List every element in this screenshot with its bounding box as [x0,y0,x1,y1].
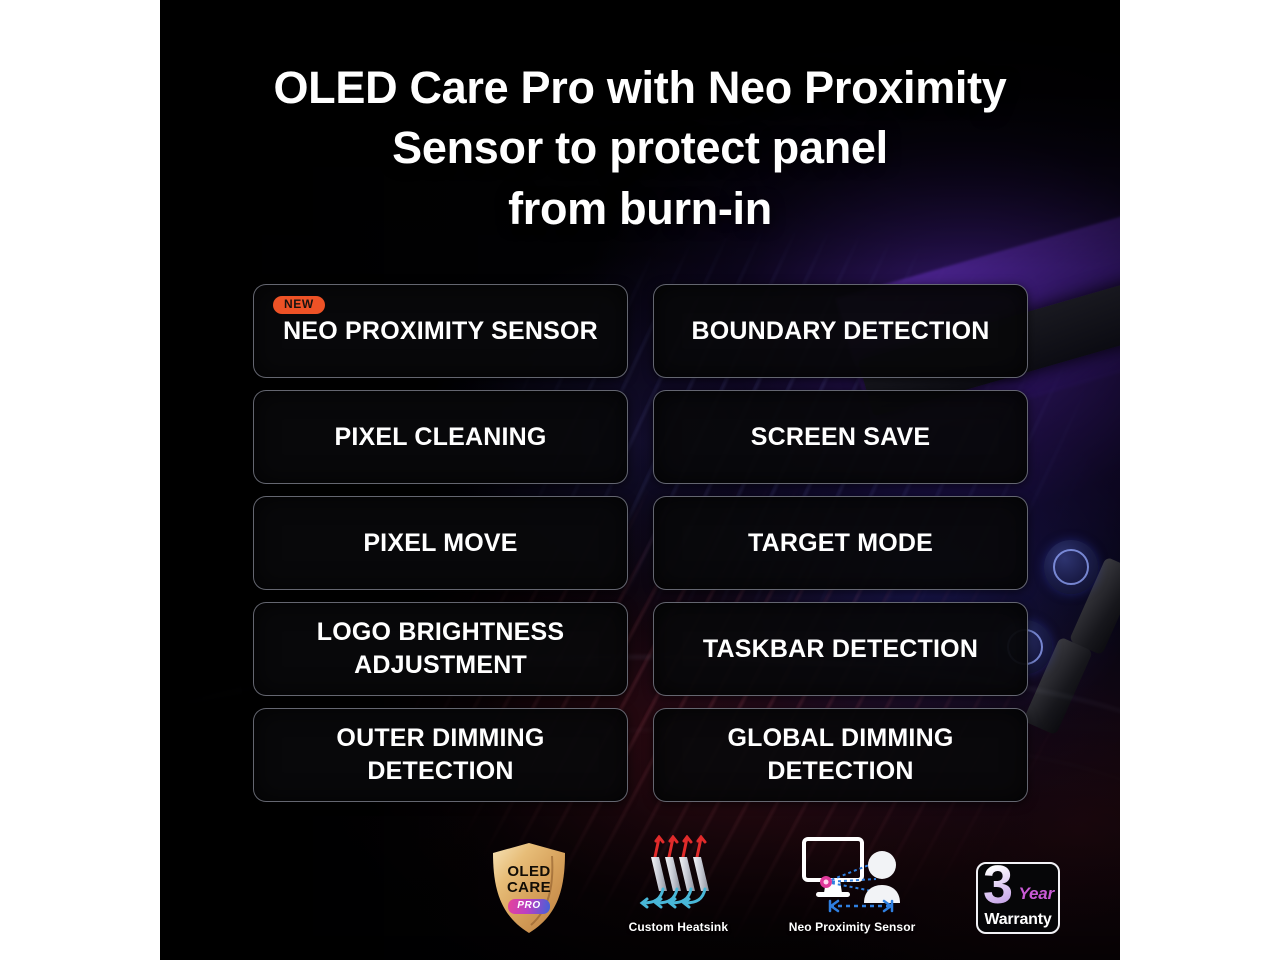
feature-label: NEO PROXIMITY SENSOR [273,315,608,348]
background-knob-upper [1044,540,1098,594]
headline-line-3: from burn-in [160,179,1120,239]
badge-oled-care-pro: OLED CARE PRO [490,842,568,934]
feature-label: SCREEN SAVE [741,421,941,454]
feature-card-outer-dimming-detection[interactable]: OUTER DIMMING DETECTION [253,708,628,802]
feature-label: GLOBAL DIMMING DETECTION [718,722,964,788]
product-marketing-image: OLED Care Pro with Neo Proximity Sensor … [160,0,1120,960]
heatsink-icon [635,835,721,913]
badge-warranty: 3 Year Warranty [976,862,1060,934]
badge-caption-proximity: Neo Proximity Sensor [789,920,916,934]
warranty-label: Warranty [978,911,1058,929]
feature-label: LOGO BRIGHTNESS ADJUSTMENT [307,616,574,682]
badge-custom-heatsink: Custom Heatsink [629,835,729,934]
badge-caption-heatsink: Custom Heatsink [629,920,729,934]
shield-icon: OLED CARE PRO [490,842,568,934]
feature-label: PIXEL MOVE [353,527,527,560]
headline: OLED Care Pro with Neo Proximity Sensor … [160,58,1120,239]
badge-neo-proximity-sensor: Neo Proximity Sensor [789,835,916,934]
feature-grid: NEW NEO PROXIMITY SENSOR BOUNDARY DETECT… [253,284,1028,802]
headline-line-1: OLED Care Pro with Neo Proximity [160,58,1120,118]
headline-line-2: Sensor to protect panel [160,118,1120,178]
feature-card-pixel-cleaning[interactable]: PIXEL CLEANING [253,390,628,484]
feature-card-pixel-move[interactable]: PIXEL MOVE [253,496,628,590]
feature-card-logo-brightness-adjustment[interactable]: LOGO BRIGHTNESS ADJUSTMENT [253,602,628,696]
warranty-unit: Year [1019,884,1054,904]
new-badge: NEW [273,296,325,314]
feature-label: OUTER DIMMING DETECTION [326,722,554,788]
feature-card-screen-save[interactable]: SCREEN SAVE [653,390,1028,484]
feature-card-taskbar-detection[interactable]: TASKBAR DETECTION [653,602,1028,696]
badge-strip: OLED CARE PRO [490,824,1060,934]
warranty-number: 3 [983,862,1013,912]
feature-label: TARGET MODE [738,527,943,560]
feature-label: TASKBAR DETECTION [693,633,988,666]
page-root: OLED Care Pro with Neo Proximity Sensor … [0,0,1280,960]
feature-card-boundary-detection[interactable]: BOUNDARY DETECTION [653,284,1028,378]
feature-card-target-mode[interactable]: TARGET MODE [653,496,1028,590]
feature-label: PIXEL CLEANING [324,421,556,454]
feature-label: BOUNDARY DETECTION [681,315,999,348]
feature-card-global-dimming-detection[interactable]: GLOBAL DIMMING DETECTION [653,708,1028,802]
warranty-icon: 3 Year Warranty [976,862,1060,934]
feature-card-neo-proximity-sensor[interactable]: NEW NEO PROXIMITY SENSOR [253,284,628,378]
proximity-sensor-icon [800,835,904,913]
